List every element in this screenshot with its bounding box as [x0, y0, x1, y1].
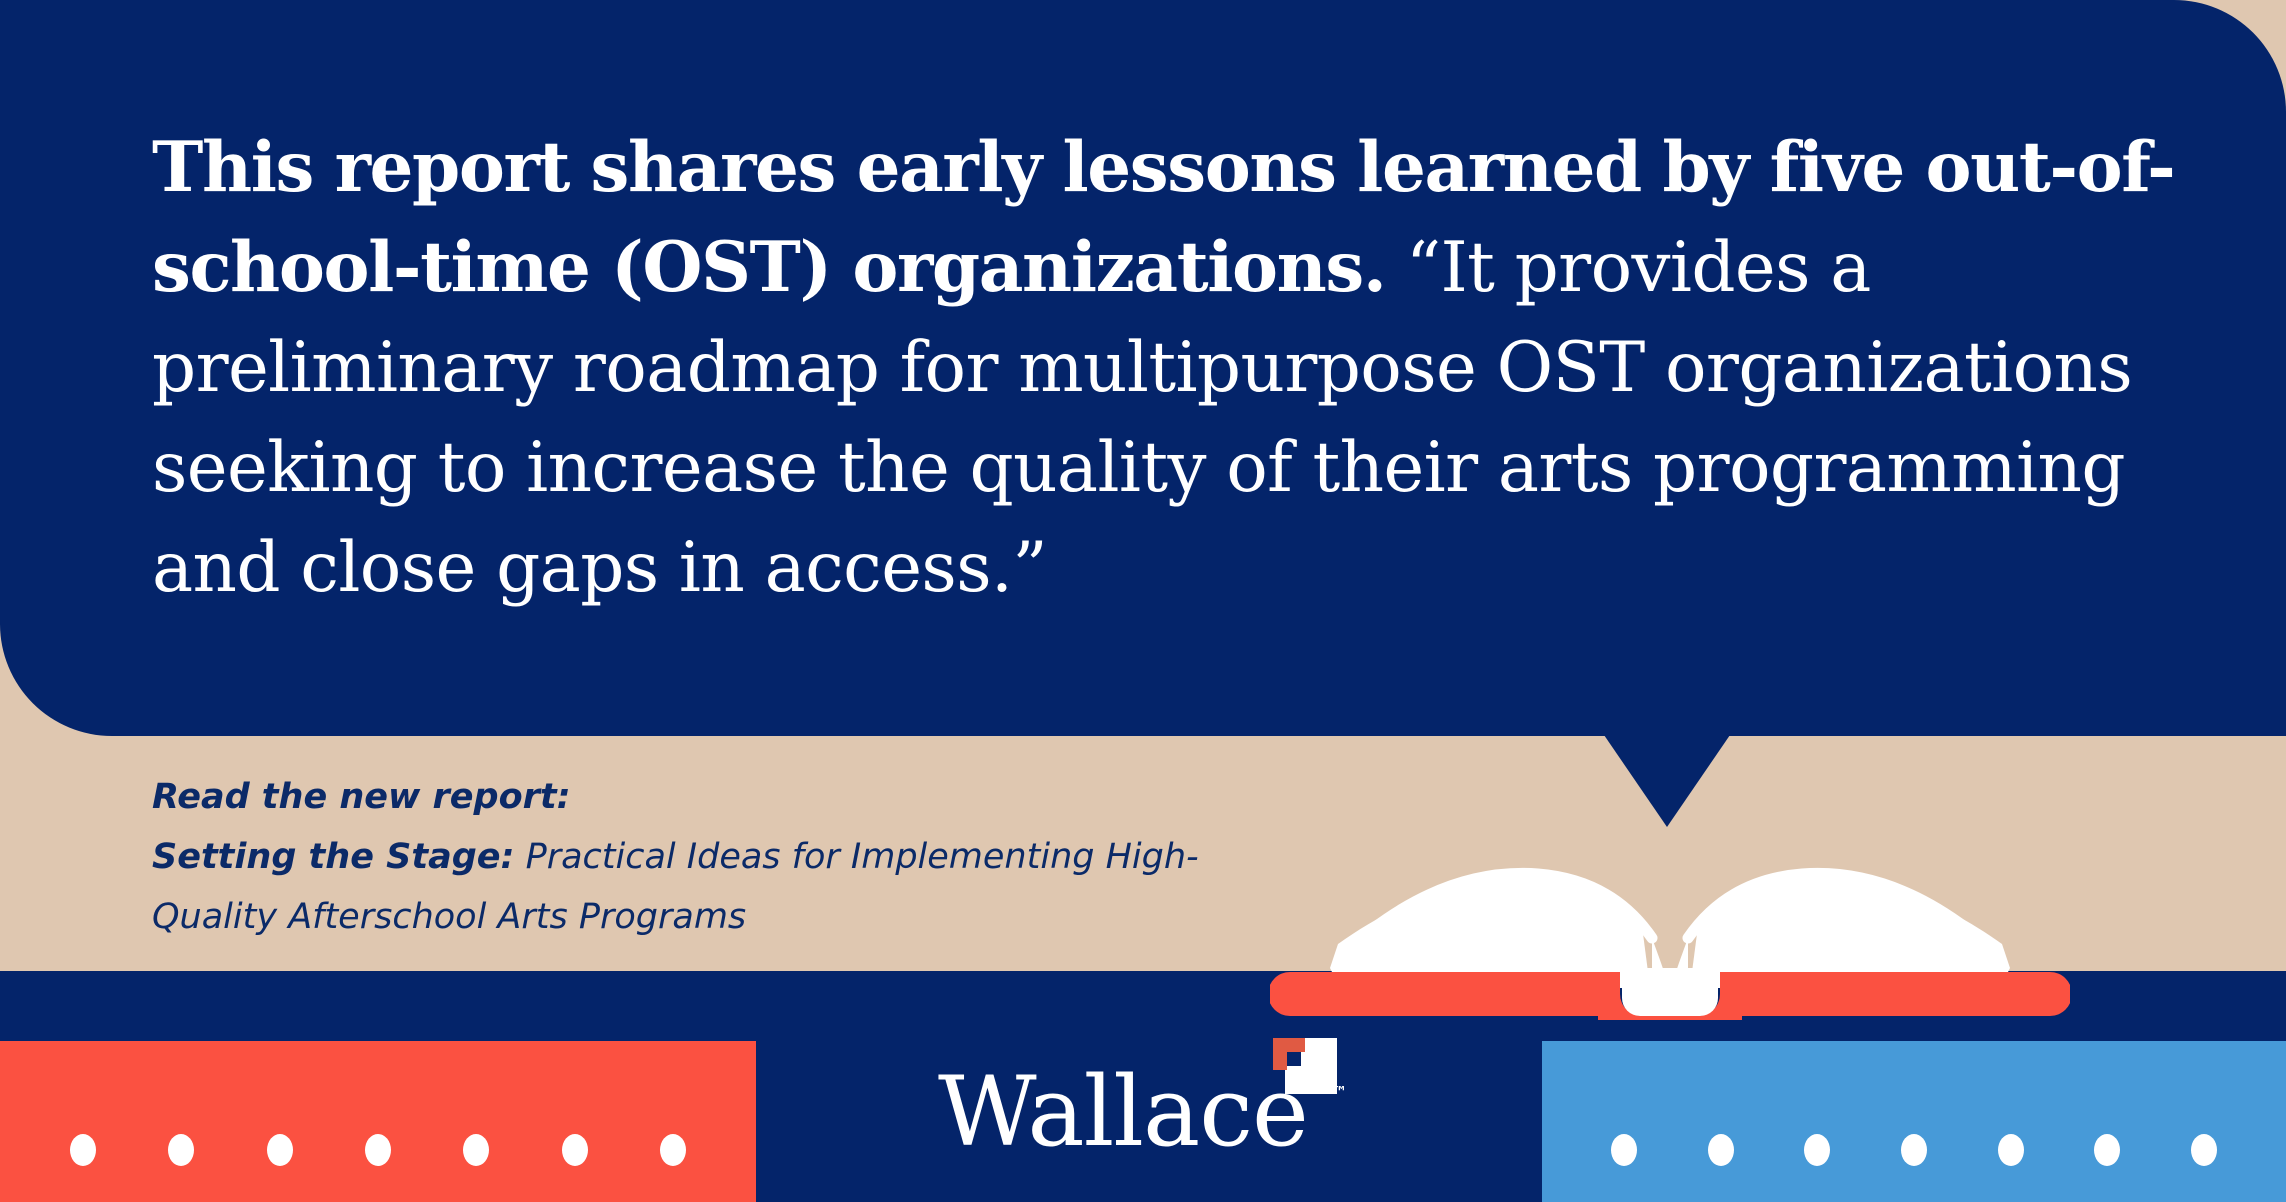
bar-dot	[1901, 1134, 1927, 1166]
bar-dot	[660, 1134, 686, 1166]
bar-dot	[2094, 1134, 2120, 1166]
speech-bubble-tail	[1604, 735, 1730, 827]
bar-dot	[1611, 1134, 1637, 1166]
promo-graphic: This report shares early lessons learned…	[0, 0, 2286, 1202]
report-title-emphasis: Setting the Stage:	[152, 837, 514, 877]
bar-dot	[1998, 1134, 2024, 1166]
wallace-logo: Wallace ™	[938, 1030, 1358, 1170]
pull-quote-bold-lead: This report shares early lessons learned…	[152, 127, 2174, 308]
pull-quote: This report shares early lessons learned…	[152, 118, 2192, 618]
wallace-wordmark: Wallace	[938, 1064, 1308, 1160]
bar-dot	[168, 1134, 194, 1166]
trademark-icon: ™	[1332, 1083, 1348, 1101]
decorative-bar-left-orange	[0, 1041, 756, 1202]
decorative-bar-right-blue	[1542, 1041, 2286, 1202]
bar-dot	[267, 1134, 293, 1166]
report-callout-lead: Read the new report:	[152, 767, 1272, 827]
bar-dot	[1708, 1134, 1734, 1166]
bar-dot	[562, 1134, 588, 1166]
report-callout: Read the new report: Setting the Stage: …	[152, 767, 1272, 947]
bar-dot	[463, 1134, 489, 1166]
open-book-icon	[1270, 820, 2070, 1020]
bar-dot	[70, 1134, 96, 1166]
bar-dot	[2191, 1134, 2217, 1166]
bar-dot	[1804, 1134, 1830, 1166]
bar-dot	[365, 1134, 391, 1166]
